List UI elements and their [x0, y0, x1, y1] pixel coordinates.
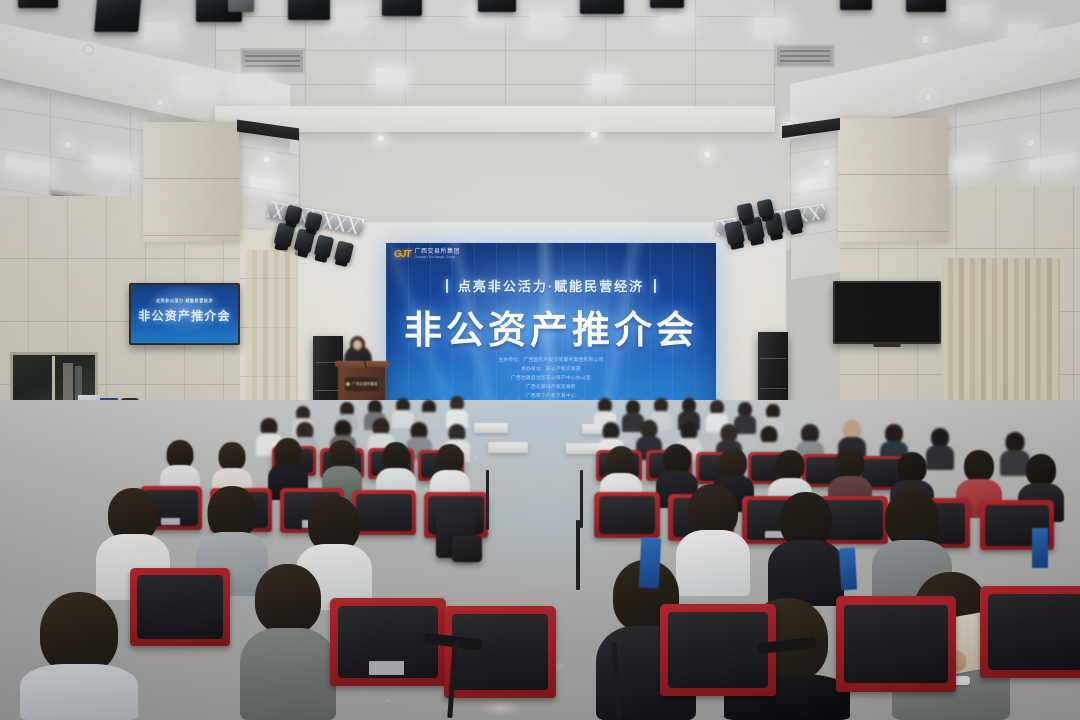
floor-highlight	[480, 700, 522, 716]
attendee	[240, 564, 336, 720]
ceiling-panel-light	[330, 8, 364, 28]
recessed-downlight	[83, 44, 94, 55]
recessed-downlight	[63, 140, 73, 150]
left-monitor-screen: 点亮非公活力·赋能民营经济 非公资产推介会	[131, 285, 238, 343]
attendee-torso	[768, 540, 844, 606]
seat-pocket-booklet	[1032, 528, 1048, 568]
ceiling-panel-light	[376, 68, 406, 85]
chair-leg	[576, 520, 580, 590]
ceiling-hanging-speaker	[906, 0, 946, 12]
attendee-head	[1006, 432, 1025, 452]
seat-pocket-booklet	[639, 538, 662, 589]
ceiling-soffit-center-band	[215, 106, 775, 132]
recessed-downlight	[822, 158, 831, 167]
chair-leg	[580, 470, 583, 528]
chair-pad	[988, 594, 1080, 669]
hvac-diffuser-right	[775, 44, 835, 68]
ceiling-hanging-speaker	[478, 0, 516, 12]
recessed-downlight	[923, 92, 933, 102]
ceiling-hanging-speaker	[580, 0, 624, 14]
podium-nameplate: 广西交易所集团	[345, 377, 380, 391]
podium-logo-icon	[346, 382, 350, 386]
led-subtitle: 点亮非公活力·赋能民营经济	[458, 276, 644, 295]
attendee-head	[898, 452, 927, 483]
recessed-downlight	[920, 34, 931, 45]
chair	[444, 606, 556, 698]
stage-spotlight	[756, 199, 774, 219]
ceiling-column-right	[838, 118, 948, 242]
ceiling-panel-light	[660, 10, 692, 28]
attendee	[768, 492, 844, 606]
floor-bag	[452, 536, 482, 562]
attendee-head	[255, 564, 321, 634]
attendee-head	[219, 442, 246, 471]
led-organizer-line-3: 广西壮族自治区非公资产中心办公室	[386, 374, 716, 382]
recessed-downlight	[590, 130, 599, 139]
hvac-diffuser-center	[240, 48, 305, 74]
attendee-torso	[20, 664, 138, 720]
monitor-stand	[873, 343, 900, 347]
attendee	[20, 592, 138, 720]
ceiling-column-left	[143, 122, 239, 242]
right-monitor-screen	[835, 283, 939, 342]
attendee-head	[275, 438, 302, 467]
recessed-downlight	[262, 155, 271, 164]
podium-top	[335, 361, 389, 367]
chair	[594, 492, 660, 538]
left-monitor-content: 点亮非公活力·赋能民营经济 非公资产推介会	[131, 285, 238, 343]
chair	[836, 596, 956, 692]
ceiling-hanging-speaker	[650, 0, 684, 8]
ceiling-panel-light	[755, 18, 787, 36]
attendee-head	[964, 450, 994, 482]
ceiling-panel-light	[144, 22, 178, 42]
front-desk	[474, 423, 508, 433]
recessed-downlight	[703, 150, 712, 159]
presenter-face	[353, 340, 362, 350]
attendee-head	[329, 440, 356, 469]
ceiling-panel-light	[530, 13, 562, 32]
attendee-torso	[240, 628, 336, 720]
ceiling-panel-light	[960, 6, 988, 22]
ceiling-hanging-speaker	[288, 0, 330, 20]
subtitle-rule-left	[446, 279, 448, 293]
recessed-downlight	[155, 97, 165, 107]
attendee-head	[40, 592, 118, 674]
ceiling-panel-light	[1008, 24, 1038, 42]
led-organizer-line-4: 广西北部湾产权交易所	[386, 383, 716, 391]
chair-leg	[486, 470, 489, 530]
ceiling-hanging-speaker	[18, 0, 58, 8]
left-wall-monitor: 点亮非公活力·赋能民营经济 非公资产推介会	[129, 283, 240, 345]
conference-hall-photo: GJT 广西交易所集团 Guangxi Exchange Group 点亮非公活…	[0, 0, 1080, 720]
ceiling-panel-light	[238, 74, 268, 91]
chair-number-tag	[369, 661, 404, 675]
main-led-screen: GJT 广西交易所集团 Guangxi Exchange Group 点亮非公活…	[386, 243, 716, 419]
attendee-head	[437, 444, 464, 473]
ceiling-hanging-speaker	[840, 0, 872, 10]
led-organizer-line-1: 主办单位：广西国有产权交易服务集团有限公司	[386, 356, 716, 364]
ceiling-hanging-speaker	[382, 0, 422, 16]
chair-pad	[844, 605, 947, 684]
ceiling-panel-light	[180, 76, 210, 93]
chair	[980, 586, 1080, 678]
attendee-head	[719, 448, 747, 478]
brand-name-en: Guangxi Exchange Group	[414, 256, 460, 259]
led-brand-logo: GJT 广西交易所集团 Guangxi Exchange Group	[394, 249, 460, 260]
attendee-head	[607, 446, 635, 476]
subtitle-rule-right	[654, 279, 656, 293]
stage-spotlight	[736, 203, 754, 223]
chair-pad	[452, 614, 548, 689]
recessed-downlight	[376, 134, 385, 143]
ceiling-hanging-speaker	[228, 0, 254, 12]
ceiling-hanging-speaker	[94, 0, 142, 32]
seat-pocket-booklet	[839, 548, 857, 591]
recessed-downlight	[1026, 138, 1036, 148]
brand-mark-icon: GJT	[394, 249, 410, 260]
led-subtitle-row: 点亮非公活力·赋能民营经济	[386, 276, 716, 295]
attendee-head	[663, 444, 691, 474]
led-organizer-line-2: 承办单位：非公产权交易部	[386, 365, 716, 373]
attendee-head	[383, 442, 410, 471]
led-main-title: 非公资产推介会	[386, 299, 716, 354]
ceiling-panel-light	[592, 74, 622, 90]
chair	[130, 568, 230, 646]
podium-plate-text: 广西交易所集团	[352, 381, 377, 386]
attendee-head	[776, 450, 805, 481]
chair-pad	[137, 575, 223, 639]
left-monitor-title: 非公资产推介会	[131, 307, 238, 324]
attendee-head	[1026, 454, 1056, 486]
right-wall-monitor	[833, 281, 941, 344]
front-desk	[488, 442, 528, 453]
chair-pad	[668, 612, 768, 687]
attendee-head	[836, 448, 865, 479]
chair-pad	[599, 496, 656, 534]
left-monitor-subtitle: 点亮非公活力·赋能民营经济	[131, 298, 238, 304]
